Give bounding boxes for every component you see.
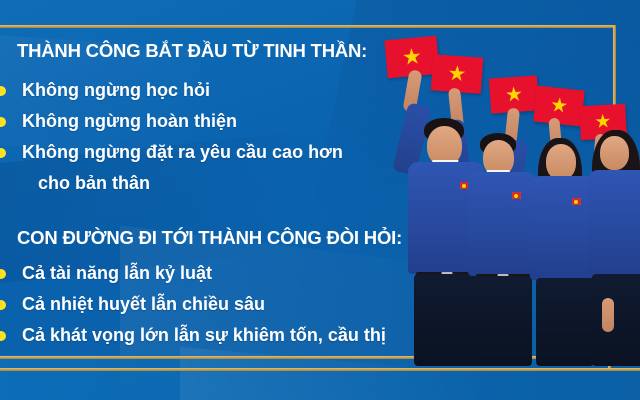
section-heading-1: THÀNH CÔNG BẮT ĐẦU TỪ TINH THẦN: bbox=[17, 42, 367, 61]
infographic-poster: ★ ★ ★ ★ ★ bbox=[0, 0, 640, 400]
bullet-list-1: Không ngừng học hỏi Không ngừng hoàn thi… bbox=[0, 75, 343, 199]
bullet-dot-icon bbox=[0, 269, 6, 279]
list-item-text: Không ngừng học hỏi bbox=[22, 80, 210, 100]
bullet-list-2: Cả tài năng lẫn kỷ luật Cả nhiệt huyết l… bbox=[0, 258, 386, 351]
bullet-dot-icon bbox=[0, 117, 6, 127]
face bbox=[546, 144, 576, 180]
flag-star-icon: ★ bbox=[549, 95, 569, 117]
list-item: Cả nhiệt huyết lẫn chiều sâu bbox=[0, 289, 386, 320]
list-item: Cả khát vọng lớn lẫn sự khiêm tốn, cầu t… bbox=[0, 320, 386, 351]
bullet-dot-icon bbox=[0, 300, 6, 310]
trousers bbox=[474, 276, 532, 366]
uniform-shirt bbox=[530, 176, 596, 280]
union-badge-icon bbox=[572, 198, 581, 205]
section-heading-2: CON ĐƯỜNG ĐI TỚI THÀNH CÔNG ĐÒI HỎI: bbox=[17, 229, 402, 248]
list-item-text: Cả tài năng lẫn kỷ luật bbox=[22, 263, 212, 283]
uniform-shirt bbox=[588, 170, 640, 276]
list-item-text: Không ngừng đặt ra yêu cầu cao hơn bbox=[22, 142, 343, 162]
list-item-continuation: cho bản thân bbox=[0, 168, 343, 199]
face bbox=[600, 136, 629, 170]
list-item-text: Cả nhiệt huyết lẫn chiều sâu bbox=[22, 294, 265, 314]
flag-star-icon: ★ bbox=[447, 63, 467, 85]
flag-star-icon: ★ bbox=[504, 84, 523, 105]
lowered-hand bbox=[602, 298, 614, 332]
list-item-text: Không ngừng hoàn thiện bbox=[22, 111, 237, 131]
list-item: Cả tài năng lẫn kỷ luật bbox=[0, 258, 386, 289]
trousers bbox=[536, 278, 594, 366]
bullet-dot-icon bbox=[0, 331, 6, 341]
list-item: Không ngừng học hỏi bbox=[0, 75, 343, 106]
text-content: THÀNH CÔNG BẮT ĐẦU TỪ TINH THẦN: Không n… bbox=[0, 0, 430, 400]
list-item: Không ngừng hoàn thiện bbox=[0, 106, 343, 137]
union-badge-icon bbox=[512, 192, 521, 199]
list-item-text: Cả khát vọng lớn lẫn sự khiêm tốn, cầu t… bbox=[22, 325, 386, 345]
bullet-dot-icon bbox=[0, 148, 6, 158]
bullet-dot-icon bbox=[0, 86, 6, 96]
list-item-text: cho bản thân bbox=[38, 173, 150, 193]
uniform-shirt bbox=[468, 172, 536, 276]
trousers bbox=[592, 274, 640, 366]
list-item: Không ngừng đặt ra yêu cầu cao hơn bbox=[0, 137, 343, 168]
flag-star-icon: ★ bbox=[594, 112, 612, 132]
